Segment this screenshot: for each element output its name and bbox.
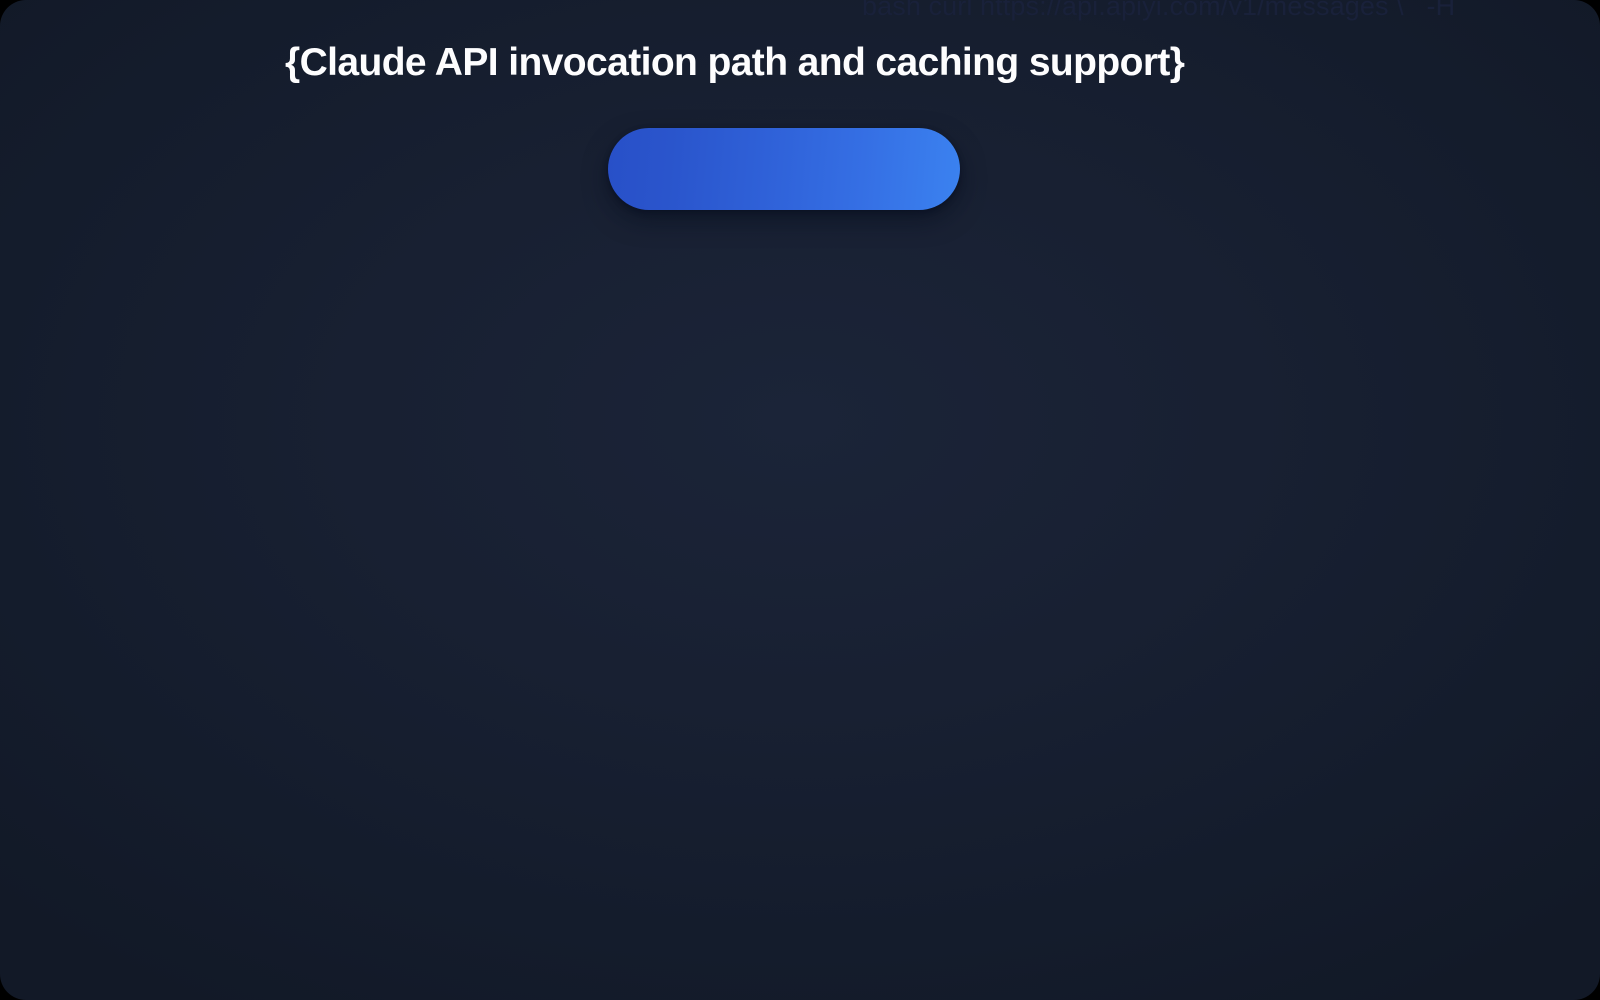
screen-root: bash curl https://api.apiyi.com/v1/messa… <box>0 0 1600 1000</box>
primary-pill-button[interactable] <box>608 128 960 210</box>
page-title: {Claude API invocation path and caching … <box>285 38 1184 88</box>
ghost-command-text: bash curl https://api.apiyi.com/v1/messa… <box>862 0 1455 22</box>
